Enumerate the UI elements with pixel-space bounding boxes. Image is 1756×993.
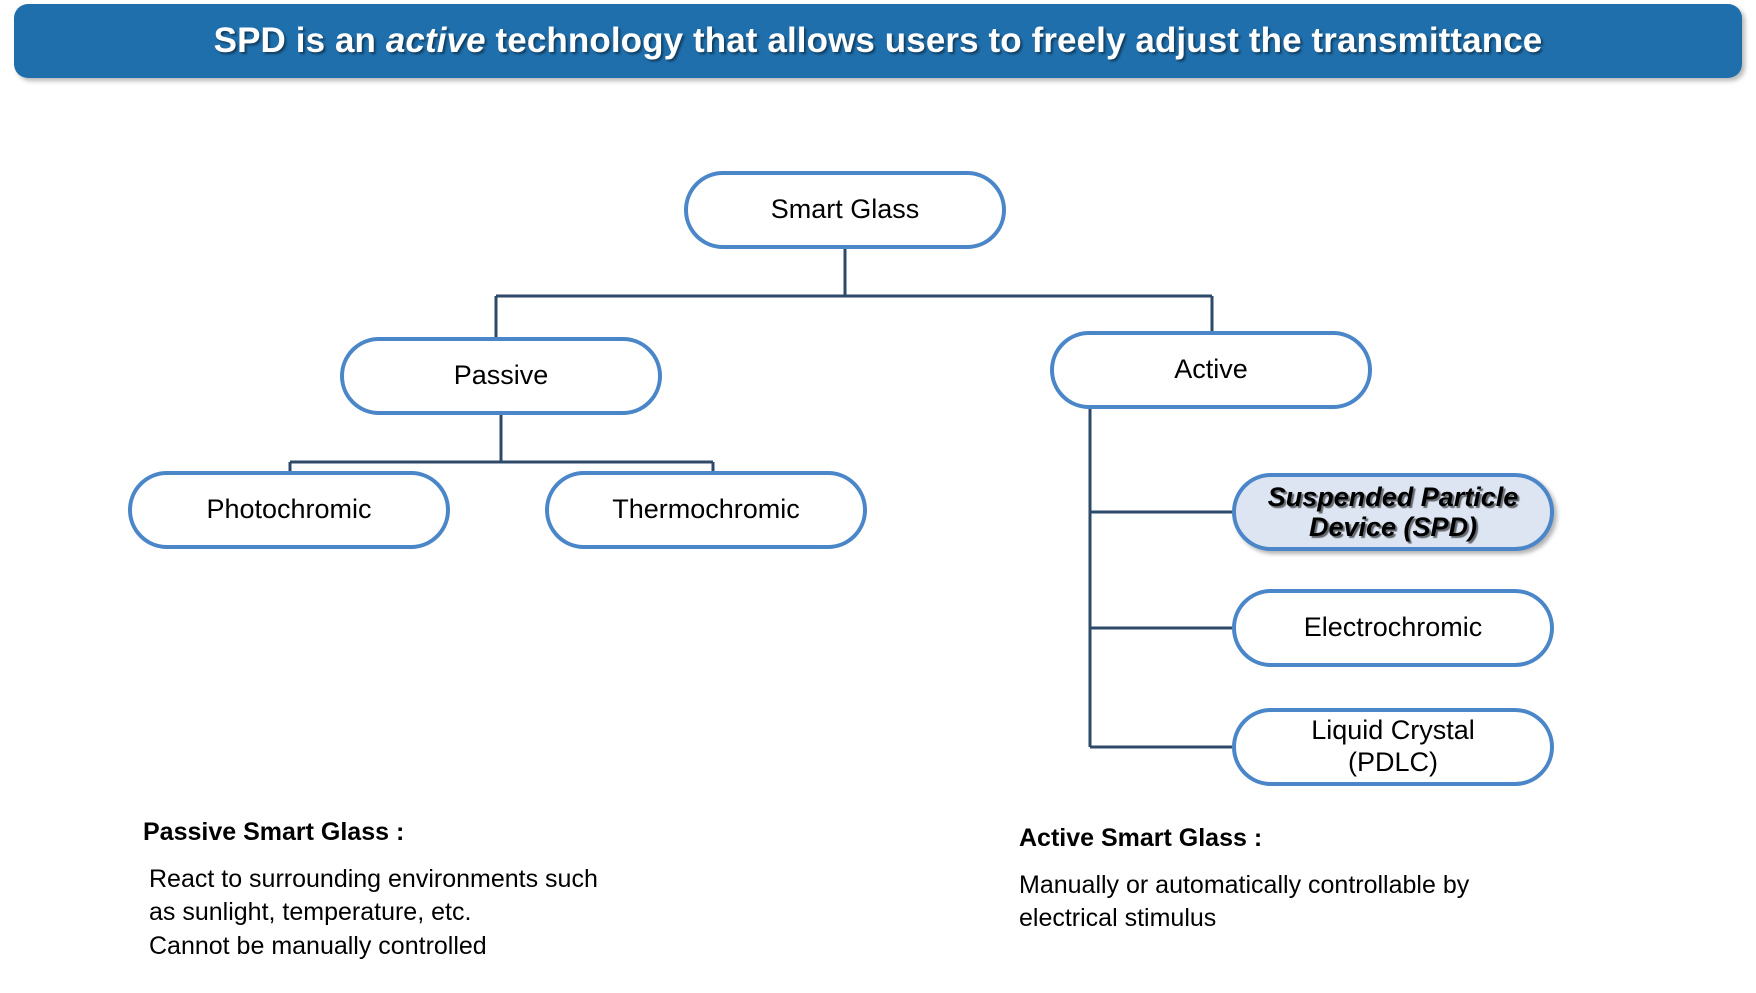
node-smart-glass[interactable]: Smart Glass <box>684 171 1006 249</box>
node-suspended-particle-device[interactable]: Suspended Particle Device (SPD) <box>1232 473 1554 551</box>
caption-passive-smart-glass: Passive Smart Glass : React to surroundi… <box>143 818 783 963</box>
node-spd-label: Suspended Particle Device (SPD) <box>1254 482 1533 542</box>
caption-active-smart-glass: Active Smart Glass : Manually or automat… <box>1019 824 1639 936</box>
node-liquid-crystal-pdlc[interactable]: Liquid Crystal (PDLC) <box>1232 708 1554 786</box>
node-active[interactable]: Active <box>1050 331 1372 409</box>
node-electrochromic-label: Electrochromic <box>1290 612 1497 644</box>
caption-active-body: Manually or automatically controllable b… <box>1019 869 1639 936</box>
node-thermochromic[interactable]: Thermochromic <box>545 471 867 549</box>
caption-active-title: Active Smart Glass : <box>1019 824 1639 853</box>
node-photochromic-label: Photochromic <box>192 494 385 526</box>
node-passive[interactable]: Passive <box>340 337 662 415</box>
node-passive-label: Passive <box>440 360 563 392</box>
node-smart-glass-label: Smart Glass <box>757 194 934 226</box>
node-photochromic[interactable]: Photochromic <box>128 471 450 549</box>
node-thermochromic-label: Thermochromic <box>598 494 814 526</box>
node-electrochromic[interactable]: Electrochromic <box>1232 589 1554 667</box>
caption-passive-body: React to surrounding environments such a… <box>149 863 783 963</box>
node-pdlc-label: Liquid Crystal (PDLC) <box>1297 715 1489 779</box>
node-active-label: Active <box>1160 354 1262 386</box>
caption-passive-title: Passive Smart Glass : <box>143 818 783 847</box>
